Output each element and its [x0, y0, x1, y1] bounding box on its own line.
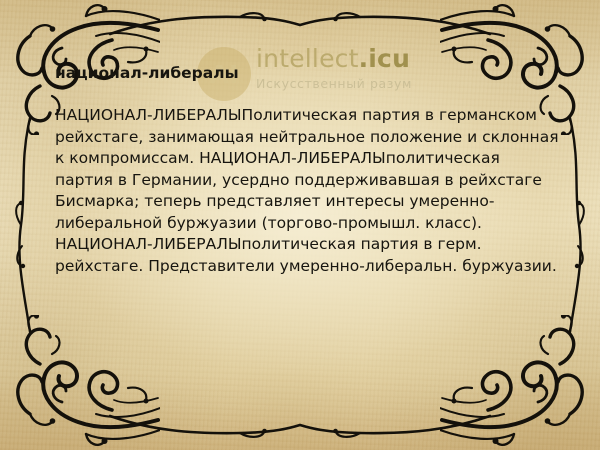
parchment-page: AI intellect.icu Искусственный разум нац… [0, 0, 600, 450]
frame-edge-right [554, 0, 600, 450]
dictionary-article: национал-либералы НАЦИОНАЛ-ЛИБЕРАЛЫПолит… [55, 64, 560, 277]
corner-flourish-bottom-left [0, 315, 160, 450]
corner-flourish-bottom-right [440, 315, 600, 450]
article-definition: НАЦИОНАЛ-ЛИБЕРАЛЫПолитическая партия в г… [55, 105, 560, 277]
frame-edge-top [0, 0, 600, 46]
article-headword: национал-либералы [55, 64, 560, 83]
frame-edge-bottom [0, 404, 600, 450]
frame-edge-left [0, 0, 46, 450]
